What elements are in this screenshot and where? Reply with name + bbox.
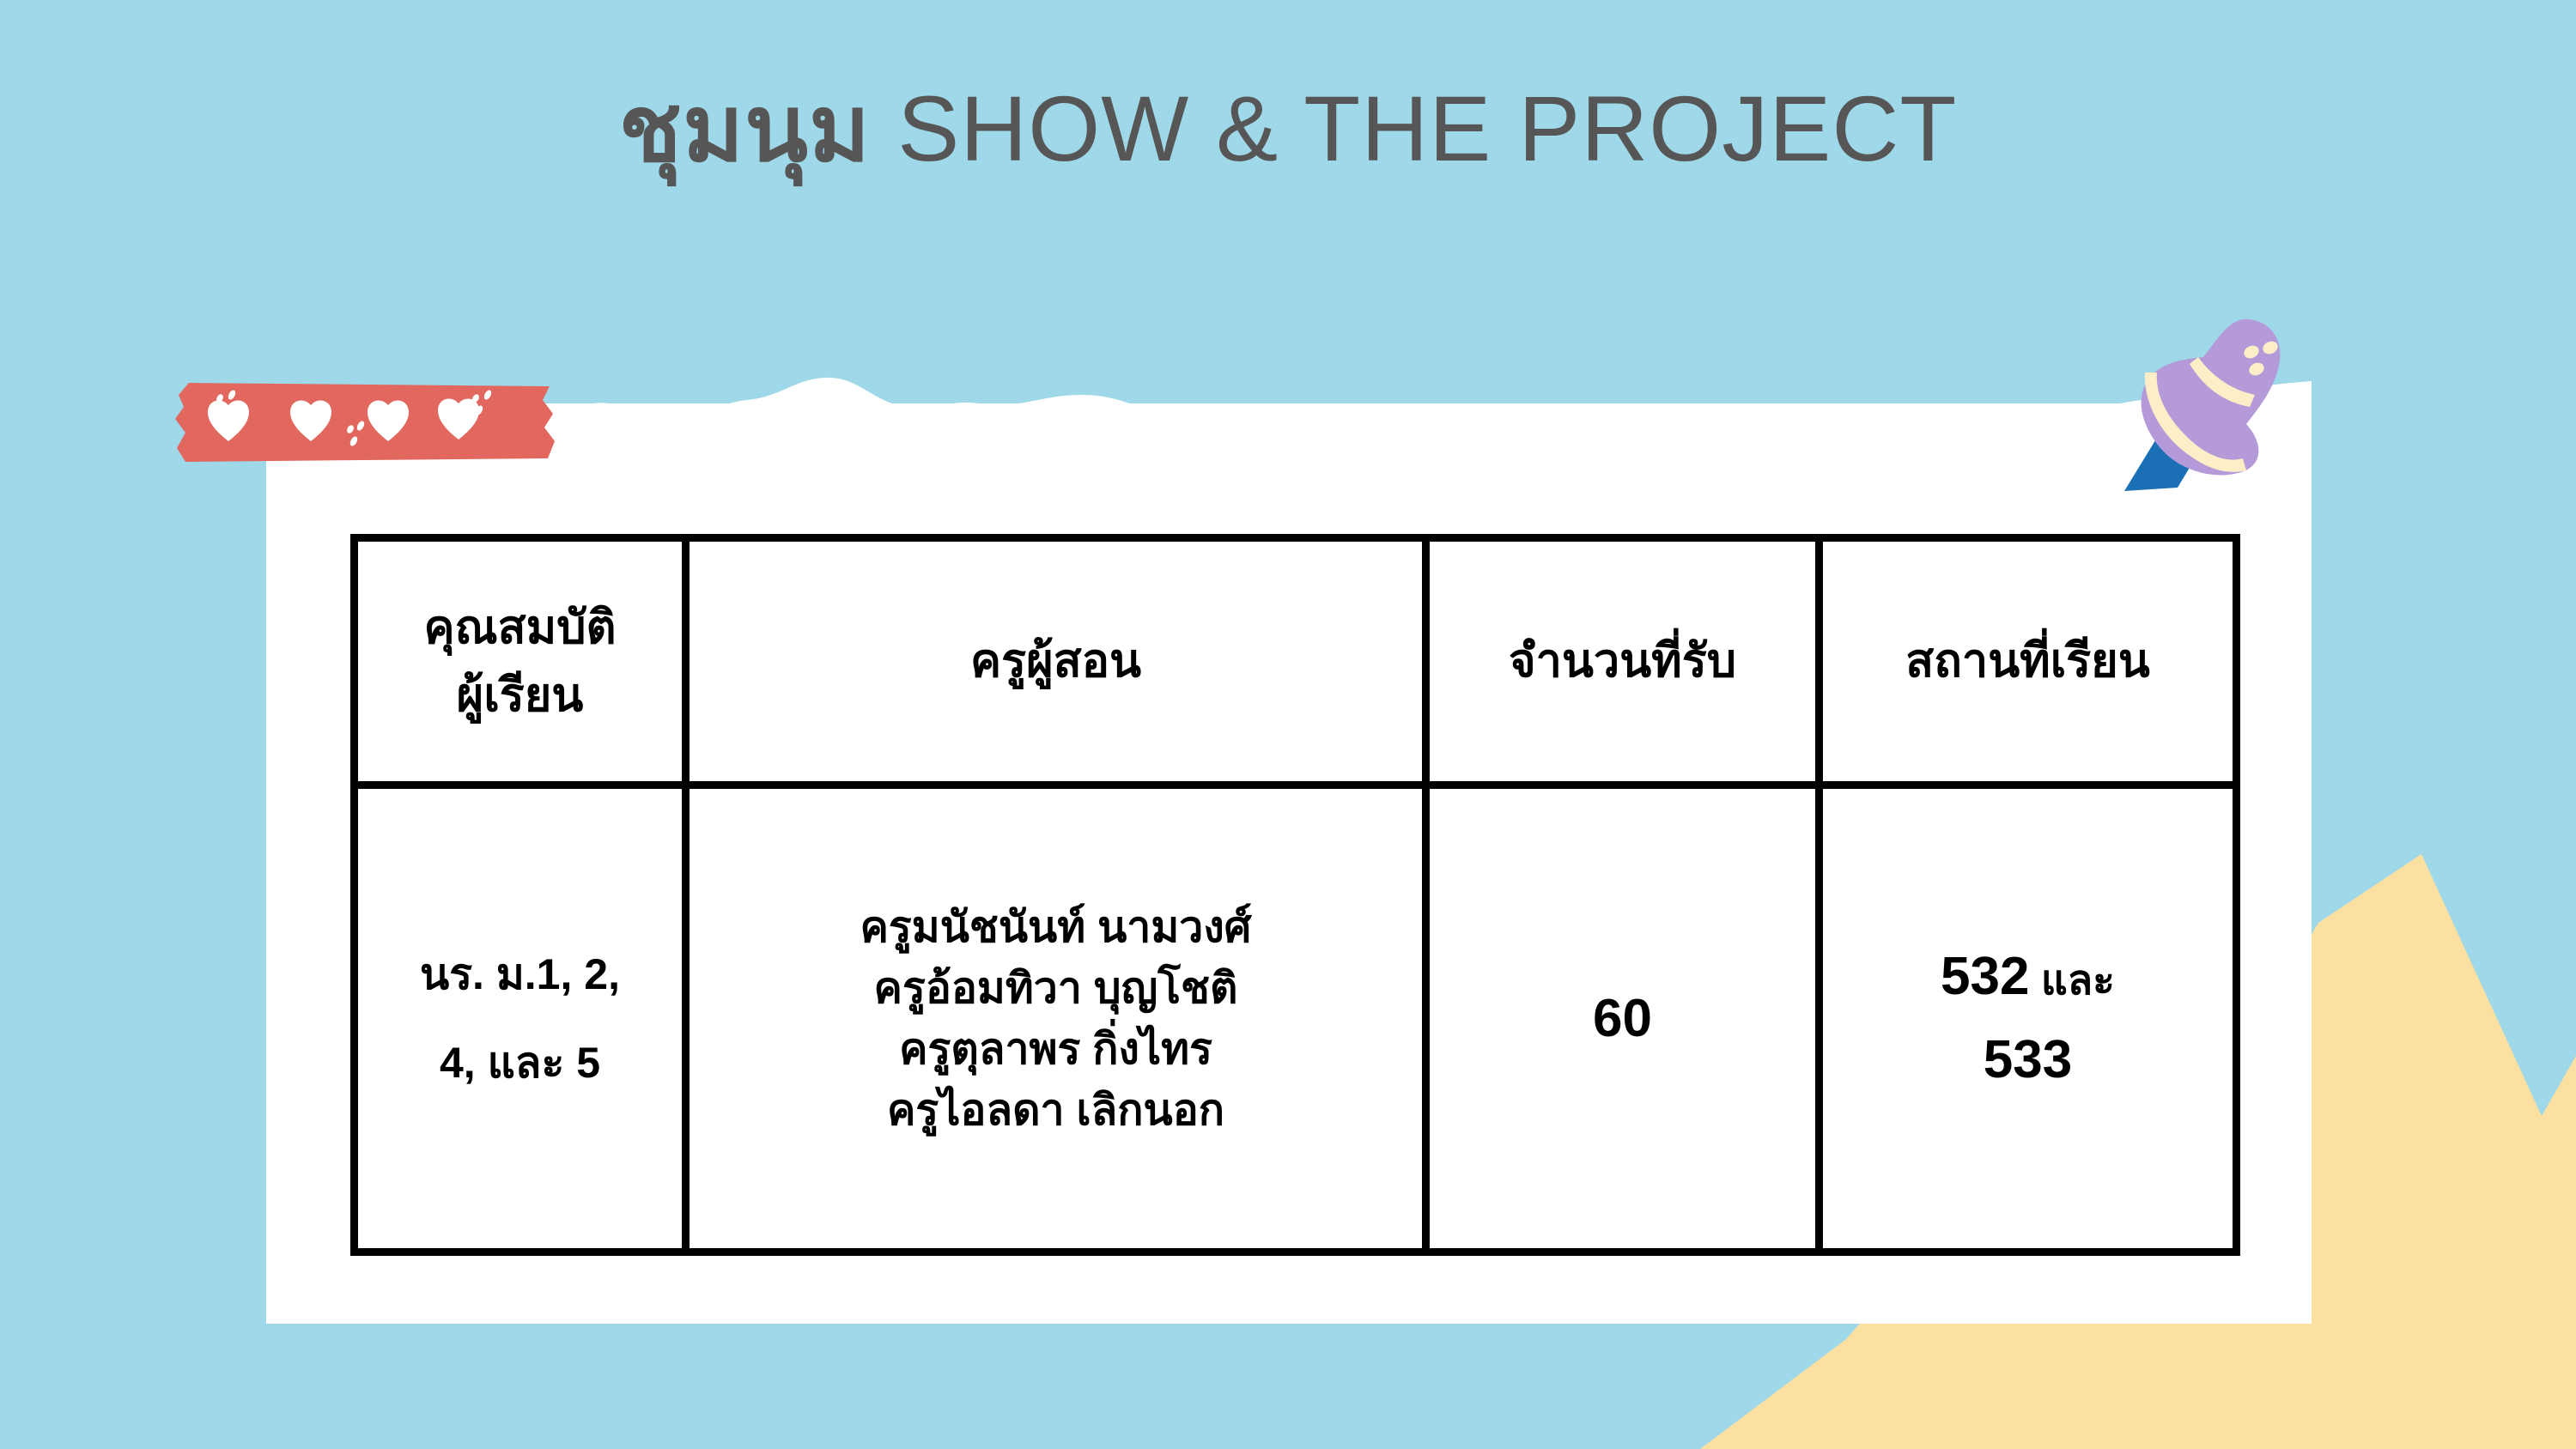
room-line1: 532 และ: [1830, 936, 2226, 1018]
page-title-thai: ชุมนุม: [619, 76, 872, 180]
teacher-name: ครูอ้อมทิวา บุญโชติ: [696, 958, 1415, 1019]
column-header-room: สถานที่เรียน: [1820, 538, 2237, 785]
room-number-533: 533: [1830, 1019, 2226, 1101]
column-header-qualification-line2: ผู้เรียน: [365, 662, 675, 729]
column-header-qualification-line1: คุณสมบัติ: [365, 594, 675, 661]
teacher-name: ครูมนัชนันท์ นามวงศ์: [696, 897, 1415, 958]
table-header-row: คุณสมบัติ ผู้เรียน ครูผู้สอน จำนวนที่รับ…: [355, 538, 2237, 785]
column-header-qualification: คุณสมบัติ ผู้เรียน: [355, 538, 686, 785]
column-header-capacity: จำนวนที่รับ: [1426, 538, 1820, 785]
cell-room: 532 และ 533: [1820, 785, 2237, 1252]
room-number-532: 532: [1941, 947, 2029, 1006]
cell-capacity: 60: [1426, 785, 1820, 1252]
table-row: นร. ม.1, 2, 4, และ 5 ครูมนัชนันท์ นามวงศ…: [355, 785, 2237, 1252]
rocket-icon: [2095, 309, 2318, 515]
teacher-name: ครูไอลดา เลิกนอก: [696, 1080, 1415, 1141]
qualification-line1: นร. ม.1, 2,: [365, 931, 675, 1019]
column-header-teacher: ครูผู้สอน: [686, 538, 1426, 785]
schedule-table: คุณสมบัติ ผู้เรียน ครูผู้สอน จำนวนที่รับ…: [350, 534, 2240, 1256]
room-conjunction: และ: [2029, 958, 2114, 1003]
page-title-latin: SHOW & THE PROJECT: [897, 76, 1957, 180]
washi-tape: [172, 376, 558, 470]
slide-canvas: ชุมนุม SHOW & THE PROJECT: [0, 0, 2576, 1449]
teacher-name: ครูตุลาพร กิ่งไทร: [696, 1019, 1415, 1080]
qualification-line2: 4, และ 5: [365, 1019, 675, 1107]
cell-teachers: ครูมนัชนันท์ นามวงศ์ ครูอ้อมทิวา บุญโชติ…: [686, 785, 1426, 1252]
cell-qualification: นร. ม.1, 2, 4, และ 5: [355, 785, 686, 1252]
page-title: ชุมนุม SHOW & THE PROJECT: [0, 76, 2576, 182]
